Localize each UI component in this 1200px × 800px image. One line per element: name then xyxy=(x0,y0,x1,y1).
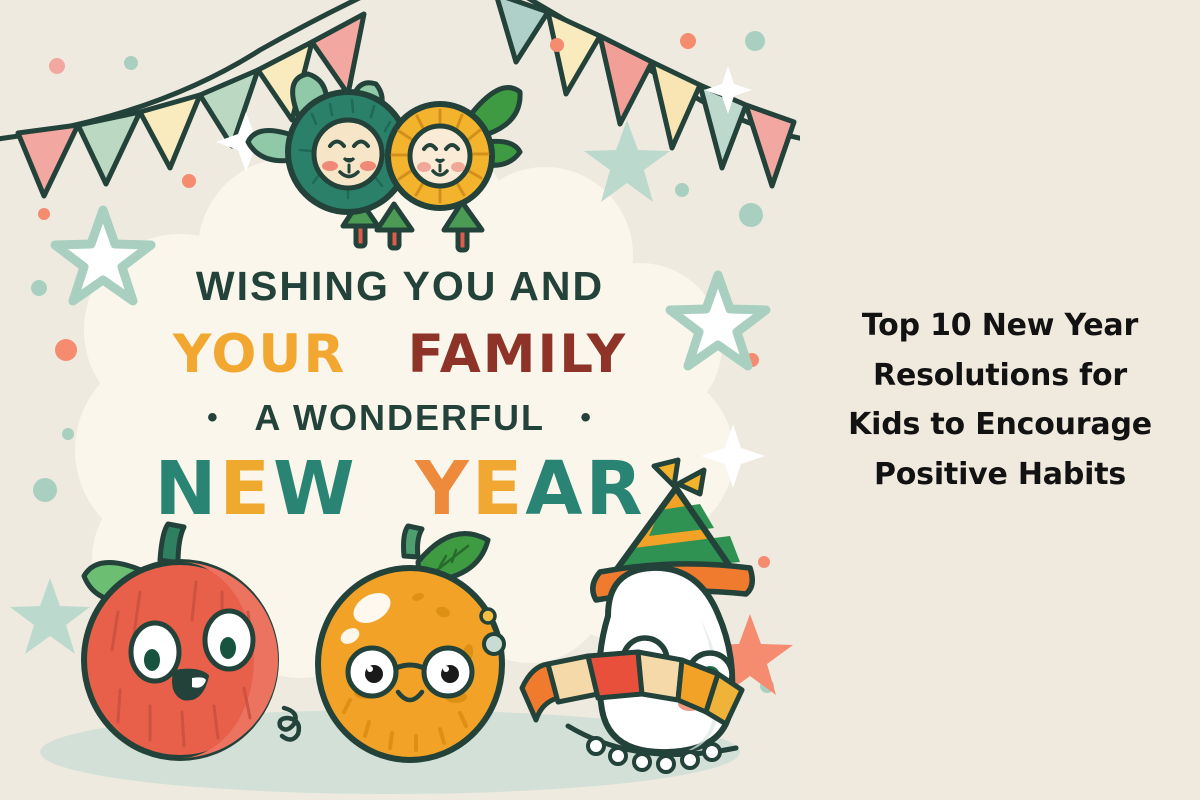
article-title-line-1: Resolutions for xyxy=(830,351,1170,401)
greeting-card-illustration: WISHING YOU AND YOUR FAMILY • A WONDERFU… xyxy=(0,0,800,800)
card-letter-5: E xyxy=(472,452,526,526)
orange-bud xyxy=(481,609,495,623)
card-line-new-year: NEW YEAR xyxy=(0,452,800,526)
card-line-wishing: WISHING YOU AND xyxy=(0,266,800,307)
article-title-line-0: Top 10 New Year xyxy=(830,301,1170,351)
card-letter-1: E xyxy=(219,452,273,526)
page-root: WISHING YOU AND YOUR FAMILY • A WONDERFU… xyxy=(0,0,1200,800)
card-line-wonderful: • A WONDERFUL • xyxy=(0,400,800,436)
article-title: Top 10 New YearResolutions forKids to En… xyxy=(830,301,1170,499)
orange-bud xyxy=(484,634,504,654)
orange-character-face xyxy=(410,126,470,186)
bullet-dot-right: • xyxy=(580,401,593,434)
card-line-wonderful-text: A WONDERFUL xyxy=(254,397,544,438)
card-letter-3 xyxy=(358,452,416,526)
article-title-panel: Top 10 New YearResolutions forKids to En… xyxy=(800,0,1200,800)
card-letter-0: N xyxy=(154,452,219,526)
bullet-dot-left: • xyxy=(207,401,220,434)
card-letter-6: A xyxy=(525,452,585,526)
article-title-line-3: Positive Habits xyxy=(830,450,1170,500)
article-title-line-2: Kids to Encourage xyxy=(830,400,1170,450)
card-letter-4: Y xyxy=(415,452,472,526)
card-word-your: YOUR xyxy=(173,324,346,385)
card-letter-2: W xyxy=(273,452,358,526)
card-letter-7: R xyxy=(586,452,646,526)
card-word-family: FAMILY xyxy=(408,324,628,385)
card-line-your-family: YOUR FAMILY xyxy=(0,328,800,381)
